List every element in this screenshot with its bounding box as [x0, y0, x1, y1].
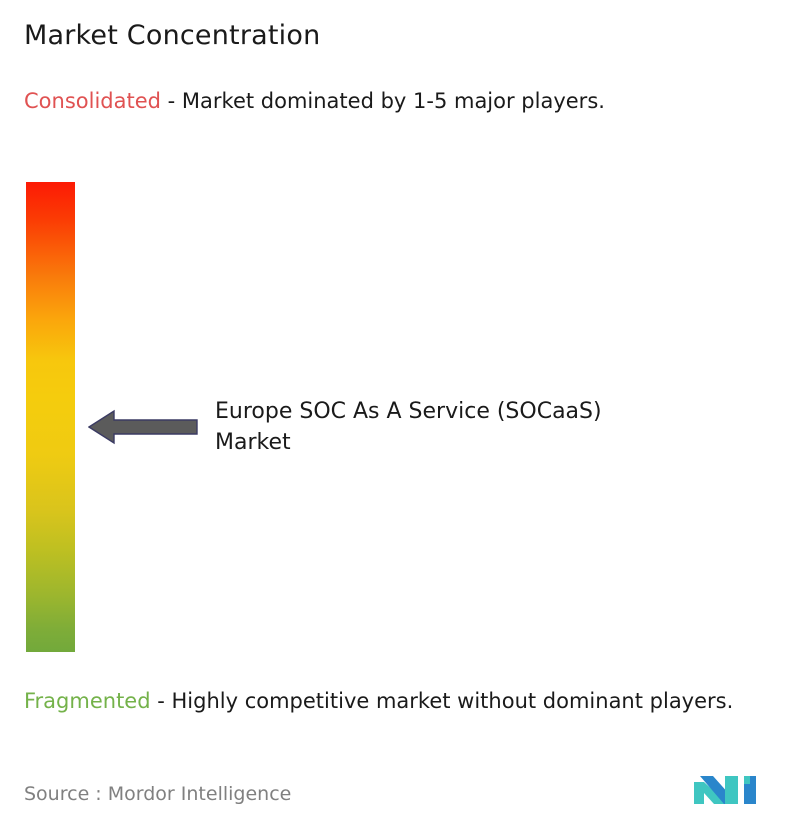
- legend-consolidated: Consolidated - Market dominated by 1-5 m…: [24, 86, 772, 116]
- legend-description-fragmented: Highly competitive market without domina…: [172, 689, 734, 713]
- market-pointer-label: Europe SOC As A Service (SOCaaS) Market: [215, 396, 635, 458]
- source-label: Source :: [24, 783, 102, 805]
- concentration-gradient-scale: [26, 182, 75, 652]
- legend-separator-top: -: [161, 89, 182, 113]
- source-note: Source : Mordor Intelligence: [24, 783, 291, 805]
- left-arrow-icon: [88, 408, 198, 446]
- legend-keyword-consolidated: Consolidated: [24, 89, 161, 113]
- legend-description-consolidated: Market dominated by 1-5 major players.: [182, 89, 605, 113]
- legend-fragmented: Fragmented - Highly competitive market w…: [24, 686, 784, 716]
- legend-separator-bottom: -: [151, 689, 172, 713]
- mordor-intelligence-logo: [694, 770, 766, 812]
- legend-keyword-fragmented: Fragmented: [24, 689, 151, 713]
- page-title: Market Concentration: [24, 20, 320, 51]
- source-value: Mordor Intelligence: [108, 783, 292, 805]
